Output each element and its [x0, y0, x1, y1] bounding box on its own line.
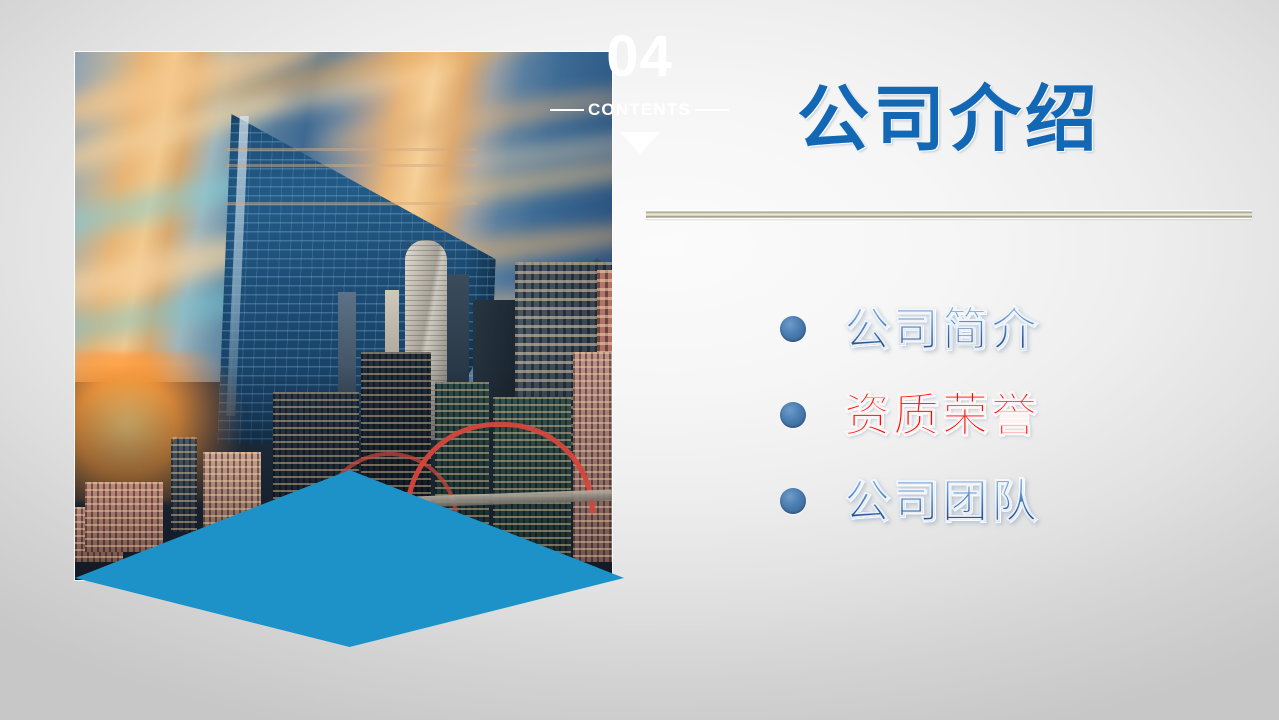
agenda-list: 公司简介 资质荣誉 公司团队: [780, 286, 1250, 544]
bullet-dot-icon: [780, 402, 806, 428]
list-item[interactable]: 公司团队: [780, 458, 1250, 544]
bullet-dot-icon: [780, 316, 806, 342]
city-block: [85, 482, 163, 552]
agenda-item-label: 公司团队: [844, 478, 1040, 524]
list-item[interactable]: 资质荣誉: [780, 372, 1250, 458]
tower-band: [227, 148, 477, 151]
agenda-item-label: 公司简介: [844, 306, 1040, 352]
presentation-slide: 04 CONTENTS 公司介绍 公司简介 资质荣誉 公司团队: [0, 0, 1279, 720]
caption-rule-left: [550, 109, 584, 111]
city-block: [171, 437, 197, 532]
city-block: [573, 352, 612, 562]
tower-band: [227, 202, 477, 205]
agenda-item-label: 资质荣誉: [844, 392, 1040, 438]
tower-band: [227, 164, 477, 167]
page-title: 公司介绍: [646, 78, 1252, 161]
title-divider: [646, 210, 1252, 219]
bullet-dot-icon: [780, 488, 806, 514]
list-item[interactable]: 公司简介: [780, 286, 1250, 372]
